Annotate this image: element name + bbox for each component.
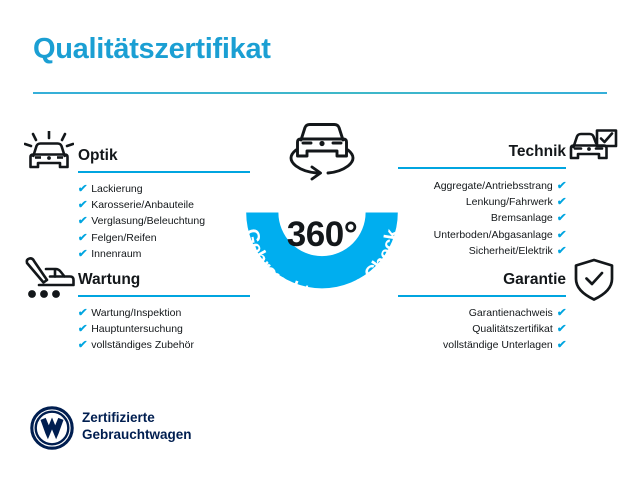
check-icon: ✔ — [77, 181, 88, 197]
section-title-garantie: Garantie — [398, 272, 566, 288]
list-item-label: Aggregate/Antriebsstrang — [434, 180, 553, 192]
section-title-technik: Technik — [398, 144, 566, 160]
check-icon: ✔ — [556, 321, 567, 337]
check-icon: ✔ — [556, 227, 567, 243]
list-item-label: Hauptuntersuchung — [91, 323, 183, 335]
car-shine-icon — [24, 131, 74, 180]
list-item-label: Lenkung/Fahrwerk — [466, 196, 553, 208]
list-item-label: Unterboden/Abgasanlage — [434, 229, 553, 241]
list-item-label: Sicherheit/Elektrik — [469, 245, 553, 257]
list-item-label: Karosserie/Anbauteile — [91, 199, 194, 211]
section-divider-technik — [398, 167, 566, 170]
footer-line-2: Gebrauchtwagen — [82, 426, 192, 443]
list-item: ✔Hauptuntersuchung — [78, 321, 258, 337]
list-item: Unterboden/Abgasanlage✔ — [398, 227, 566, 243]
section-divider-garantie — [398, 295, 566, 298]
badge-360-gebrauchtwagen-check: Gebrauchtwagen-Check 360° — [222, 112, 422, 317]
certificate-page: Qualitätszertifikat Optik ✔Lackierung — [0, 0, 640, 480]
check-icon: ✔ — [77, 321, 88, 337]
list-item-label: Wartung/Inspektion — [91, 307, 181, 319]
check-icon: ✔ — [556, 337, 567, 353]
check-icon: ✔ — [77, 197, 88, 213]
check-icon: ✔ — [556, 243, 567, 259]
check-icon: ✔ — [77, 230, 88, 246]
checklist-technik: Aggregate/Antriebsstrang✔ Lenkung/Fahrwe… — [398, 178, 566, 259]
check-icon: ✔ — [556, 210, 567, 226]
check-icon: ✔ — [556, 178, 567, 194]
list-item: Lenkung/Fahrwerk✔ — [398, 194, 566, 210]
footer-line-1: Zertifizierte — [82, 409, 192, 426]
footer-brand-text: Zertifizierte Gebrauchtwagen — [82, 409, 192, 443]
check-icon: ✔ — [77, 305, 88, 321]
shield-check-icon — [572, 257, 616, 308]
volkswagen-logo — [30, 406, 74, 455]
badge-degrees-label: 360° — [222, 215, 422, 255]
list-item-label: vollständiges Zubehör — [91, 339, 194, 351]
check-icon: ✔ — [77, 337, 88, 353]
section-header-garantie: Garantie — [398, 272, 566, 297]
list-item: Bremsanlage✔ — [398, 210, 566, 226]
check-icon: ✔ — [77, 213, 88, 229]
list-item: Sicherheit/Elektrik✔ — [398, 243, 566, 259]
title-divider — [33, 92, 607, 94]
list-item-label: Garantienachweis — [469, 307, 553, 319]
page-title: Qualitätszertifikat — [33, 33, 271, 66]
check-icon: ✔ — [77, 246, 88, 262]
list-item-label: Innenraum — [91, 248, 141, 260]
list-item-label: Verglasung/Beleuchtung — [91, 215, 205, 227]
list-item-label: Qualitätszertifikat — [472, 323, 553, 335]
checklist-garantie: Garantienachweis✔ Qualitätszertifikat✔ v… — [398, 305, 566, 354]
wrench-car-icon — [22, 256, 76, 305]
list-item-label: Felgen/Reifen — [91, 232, 156, 244]
list-item: ✔vollständiges Zubehör — [78, 337, 258, 353]
list-item-label: vollständige Unterlagen — [443, 339, 553, 351]
list-item: Aggregate/Antriebsstrang✔ — [398, 178, 566, 194]
list-item-label: Bremsanlage — [491, 212, 553, 224]
list-item: vollständige Unterlagen✔ — [398, 337, 566, 353]
car-checkbox-icon — [566, 129, 618, 180]
section-header-technik: Technik — [398, 144, 566, 169]
list-item: Qualitätszertifikat✔ — [398, 321, 566, 337]
list-item: Garantienachweis✔ — [398, 305, 566, 321]
check-icon: ✔ — [556, 194, 567, 210]
check-icon: ✔ — [556, 305, 567, 321]
list-item-label: Lackierung — [91, 183, 142, 195]
